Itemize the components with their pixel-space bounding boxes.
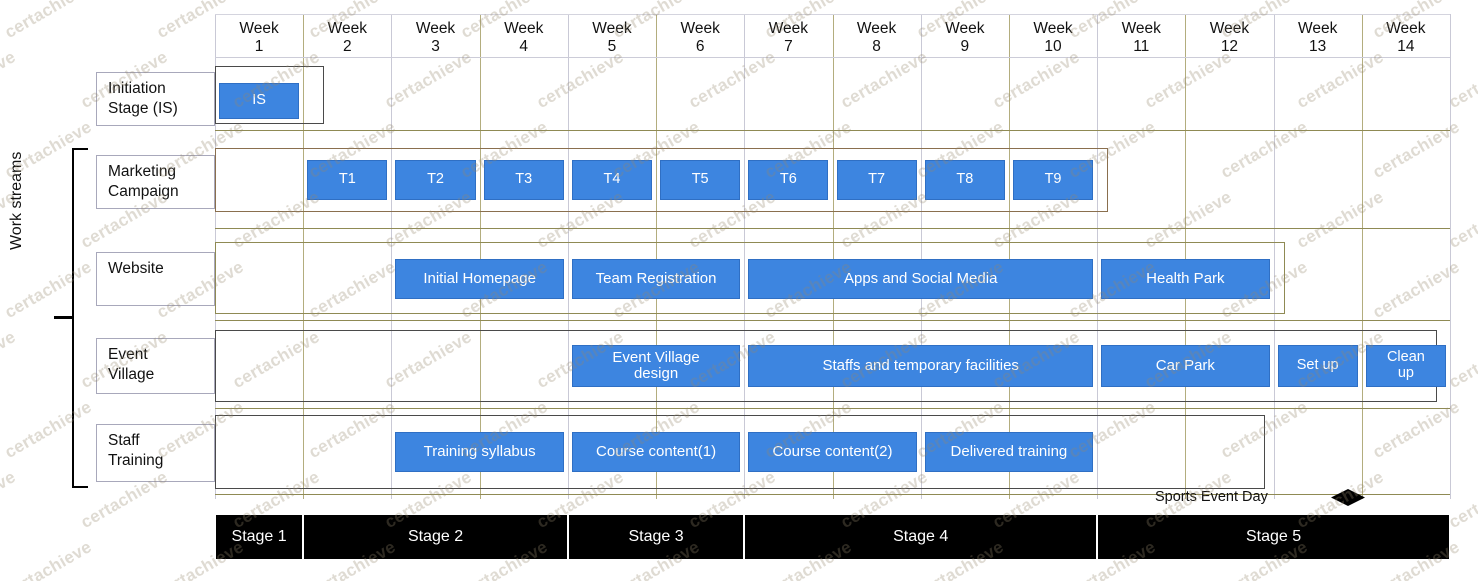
row-separator (215, 320, 1450, 321)
week-header-word: Week (656, 20, 744, 38)
task-bar-t2[interactable]: T2 (395, 160, 475, 200)
row-label-staff-training: Staff Training (96, 424, 215, 482)
week-header-8: Week8 (833, 20, 921, 56)
week-header-word: Week (1362, 20, 1450, 38)
week-header-word: Week (480, 20, 568, 38)
week-header-word: Week (744, 20, 832, 38)
stage-bar-stage-1[interactable]: Stage 1 (215, 514, 303, 560)
week-header-number: 14 (1362, 38, 1450, 56)
task-bar-clean-up[interactable]: Clean up (1366, 345, 1446, 387)
grid-column-line (1450, 14, 1451, 499)
task-bar-course-content-2[interactable]: Course content(2) (748, 432, 916, 472)
week-header-underline (215, 57, 1450, 58)
task-bar-is[interactable]: IS (219, 83, 299, 119)
task-bar-t6[interactable]: T6 (748, 160, 828, 200)
week-header-word: Week (1097, 20, 1185, 38)
row-separator (215, 408, 1450, 409)
week-header-number: 10 (1009, 38, 1097, 56)
week-header-number: 5 (568, 38, 656, 56)
week-header-word: Week (215, 20, 303, 38)
week-header-number: 1 (215, 38, 303, 56)
week-header-word: Week (391, 20, 479, 38)
week-header-number: 12 (1185, 38, 1273, 56)
task-bar-t4[interactable]: T4 (572, 160, 652, 200)
watermark-text: certachieve (0, 467, 19, 533)
row-label-marketing-campaign: Marketing Campaign (96, 155, 215, 209)
plot-top-border (215, 14, 1450, 15)
task-bar-apps-and-social-media[interactable]: Apps and Social Media (748, 259, 1093, 299)
row-separator (215, 228, 1450, 229)
week-header-11: Week11 (1097, 20, 1185, 56)
week-header-number: 2 (303, 38, 391, 56)
week-header-word: Week (568, 20, 656, 38)
watermark-text: certachieve (1, 537, 95, 581)
task-bar-t7[interactable]: T7 (837, 160, 917, 200)
row-label-initiation-stage-is: Initiation Stage (IS) (96, 72, 215, 126)
task-bar-t5[interactable]: T5 (660, 160, 740, 200)
week-header-word: Week (303, 20, 391, 38)
week-header-6: Week6 (656, 20, 744, 56)
task-bar-t1[interactable]: T1 (307, 160, 387, 200)
stage-bar-stage-2[interactable]: Stage 2 (303, 514, 568, 560)
week-header-3: Week3 (391, 20, 479, 56)
week-header-5: Week5 (568, 20, 656, 56)
task-bar-staffs-and-temporary-facilities[interactable]: Staffs and temporary facilities (748, 345, 1093, 387)
week-header-number: 4 (480, 38, 568, 56)
task-bar-t8[interactable]: T8 (925, 160, 1005, 200)
axis-label-work-streams: Work streams (8, 152, 26, 250)
task-bar-t9[interactable]: T9 (1013, 160, 1093, 200)
week-header-word: Week (833, 20, 921, 38)
task-bar-health-park[interactable]: Health Park (1101, 259, 1269, 299)
week-header-number: 6 (656, 38, 744, 56)
milestone-label: Sports Event Day (1155, 489, 1268, 505)
task-bar-initial-homepage[interactable]: Initial Homepage (395, 259, 563, 299)
week-header-1: Week1 (215, 20, 303, 56)
stage-bar-stage-3[interactable]: Stage 3 (568, 514, 744, 560)
week-header-14: Week14 (1362, 20, 1450, 56)
row-separator (215, 130, 1450, 131)
watermark-text: certachieve (0, 47, 19, 113)
task-bar-event-village-design[interactable]: Event Village design (572, 345, 740, 387)
week-header-word: Week (921, 20, 1009, 38)
row-label-event-village: Event Village (96, 338, 215, 394)
task-bar-car-park[interactable]: Car Park (1101, 345, 1269, 387)
week-header-word: Week (1274, 20, 1362, 38)
week-header-number: 8 (833, 38, 921, 56)
week-header-13: Week13 (1274, 20, 1362, 56)
stage-bar-stage-5[interactable]: Stage 5 (1097, 514, 1450, 560)
week-header-2: Week2 (303, 20, 391, 56)
week-header-9: Week9 (921, 20, 1009, 56)
task-bar-team-registration[interactable]: Team Registration (572, 259, 740, 299)
gantt-chart: Work streams Week1Week2Week3Week4Week5We… (0, 0, 1478, 581)
watermark-text: certachieve (1, 0, 95, 43)
row-label-website: Website (96, 252, 215, 306)
week-header-12: Week12 (1185, 20, 1273, 56)
work-streams-brace (72, 148, 88, 488)
watermark-text: certachieve (0, 327, 19, 393)
task-bar-training-syllabus[interactable]: Training syllabus (395, 432, 563, 472)
week-header-number: 9 (921, 38, 1009, 56)
milestone-diamond-icon (1331, 489, 1365, 506)
week-header-number: 7 (744, 38, 832, 56)
week-header-number: 11 (1097, 38, 1185, 56)
task-bar-t3[interactable]: T3 (484, 160, 564, 200)
week-header-word: Week (1185, 20, 1273, 38)
task-bar-set-up[interactable]: Set up (1278, 345, 1358, 387)
week-header-number: 13 (1274, 38, 1362, 56)
task-bar-delivered-training[interactable]: Delivered training (925, 432, 1093, 472)
week-header-word: Week (1009, 20, 1097, 38)
work-streams-brace-connector (54, 316, 74, 319)
stage-bar-stage-4[interactable]: Stage 4 (744, 514, 1097, 560)
week-header-4: Week4 (480, 20, 568, 56)
week-header-7: Week7 (744, 20, 832, 56)
grid-column-line (1362, 14, 1363, 499)
week-header-number: 3 (391, 38, 479, 56)
task-bar-course-content-1[interactable]: Course content(1) (572, 432, 740, 472)
week-header-10: Week10 (1009, 20, 1097, 56)
